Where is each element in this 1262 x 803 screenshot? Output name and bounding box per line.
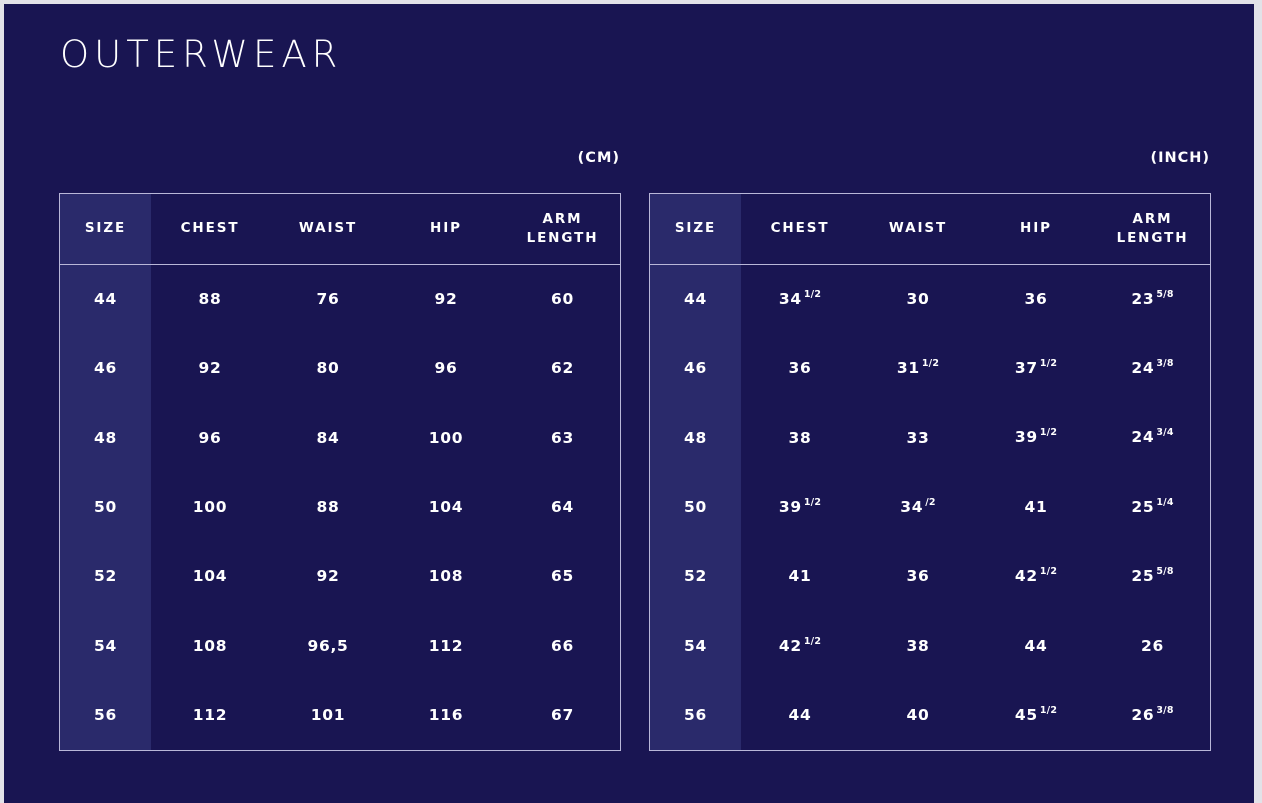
cell-waist: 84 xyxy=(269,403,387,472)
column-header-arm-length: ARM LENGTH xyxy=(505,194,620,264)
table-row: 4636311/2371/2243/8 xyxy=(650,333,1210,402)
value-whole: 88 xyxy=(317,498,340,516)
value-fraction: 3/8 xyxy=(1156,358,1173,369)
cell-arm-length: 67 xyxy=(505,681,620,750)
cell-size: 56 xyxy=(60,681,151,750)
value-whole: 41 xyxy=(789,567,812,585)
cell-arm-length: 60 xyxy=(505,264,620,333)
cell-chest: 341/2 xyxy=(741,264,859,333)
cell-chest: 41 xyxy=(741,542,859,611)
cell-size: 44 xyxy=(650,264,741,333)
value-whole: 30 xyxy=(907,290,930,308)
table-row: 44341/23036235/8 xyxy=(650,264,1210,333)
cell-hip: 92 xyxy=(387,264,505,333)
value-whole: 48 xyxy=(684,429,707,447)
cell-size: 54 xyxy=(650,611,741,680)
cell-size: 52 xyxy=(650,542,741,611)
size-chart-page: OUTERWEAR (CM) (INCH) SIZE CHEST WAIST H… xyxy=(4,4,1254,803)
arm-length-line-2: LENGTH xyxy=(505,229,620,248)
value-fraction: 1/2 xyxy=(1040,358,1057,369)
value-whole: 108 xyxy=(193,637,227,655)
cell-hip: 41 xyxy=(977,472,1095,541)
cell-arm-length: 255/8 xyxy=(1095,542,1210,611)
value-whole: 31 xyxy=(897,359,920,377)
value-whole: 46 xyxy=(684,359,707,377)
value-whole: 33 xyxy=(907,429,930,447)
size-table-inch: SIZE CHEST WAIST HIP ARM LENGTH 44341/23… xyxy=(649,193,1211,751)
cell-waist: 311/2 xyxy=(859,333,977,402)
value-whole: 84 xyxy=(317,429,340,447)
cell-hip: 391/2 xyxy=(977,403,1095,472)
value-whole: 112 xyxy=(193,706,227,724)
measurements-table-cm: SIZE CHEST WAIST HIP ARM LENGTH 44887692… xyxy=(60,194,620,750)
table-row: 564440451/2263/8 xyxy=(650,681,1210,750)
value-whole: 36 xyxy=(907,567,930,585)
value-fraction: 1/2 xyxy=(1040,566,1057,577)
value-whole: 66 xyxy=(551,637,574,655)
value-whole: 24 xyxy=(1131,429,1154,447)
arm-length-line-2: LENGTH xyxy=(1095,229,1210,248)
cell-chest: 108 xyxy=(151,611,269,680)
value-whole: 25 xyxy=(1131,567,1154,585)
value-fraction: 1/2 xyxy=(1040,705,1057,716)
cell-hip: 104 xyxy=(387,472,505,541)
cell-chest: 100 xyxy=(151,472,269,541)
arm-length-line-1: ARM xyxy=(505,210,620,229)
cell-arm-length: 63 xyxy=(505,403,620,472)
cell-chest: 112 xyxy=(151,681,269,750)
value-whole: 96 xyxy=(435,359,458,377)
value-whole: 42 xyxy=(1015,567,1038,585)
value-whole: 92 xyxy=(199,359,222,377)
cell-waist: 101 xyxy=(269,681,387,750)
value-whole: 37 xyxy=(1015,359,1038,377)
page-title: OUTERWEAR xyxy=(60,32,342,78)
cell-waist: 40 xyxy=(859,681,977,750)
value-whole: 41 xyxy=(1025,498,1048,516)
table-row: 48968410063 xyxy=(60,403,620,472)
value-whole: 64 xyxy=(551,498,574,516)
cell-chest: 44 xyxy=(741,681,859,750)
cell-waist: 76 xyxy=(269,264,387,333)
value-whole: 54 xyxy=(94,637,117,655)
column-header-arm-length: ARM LENGTH xyxy=(1095,194,1210,264)
value-whole: 108 xyxy=(429,567,463,585)
table-row: 4488769260 xyxy=(60,264,620,333)
table-row: 5410896,511266 xyxy=(60,611,620,680)
value-whole: 50 xyxy=(684,498,707,516)
cell-waist: 34/2 xyxy=(859,472,977,541)
cell-arm-length: 64 xyxy=(505,472,620,541)
value-whole: 46 xyxy=(94,359,117,377)
table-row: 4692809662 xyxy=(60,333,620,402)
column-header-hip: HIP xyxy=(387,194,505,264)
value-whole: 42 xyxy=(779,637,802,655)
arm-length-line-1: ARM xyxy=(1095,210,1210,229)
value-whole: 44 xyxy=(1025,637,1048,655)
value-whole: 92 xyxy=(435,290,458,308)
value-whole: 36 xyxy=(1025,290,1048,308)
value-fraction: 1/2 xyxy=(1040,427,1057,438)
value-whole: 38 xyxy=(789,429,812,447)
cell-waist: 88 xyxy=(269,472,387,541)
value-fraction: 5/8 xyxy=(1156,289,1173,300)
cell-size: 54 xyxy=(60,611,151,680)
cell-chest: 391/2 xyxy=(741,472,859,541)
value-whole: 24 xyxy=(1131,359,1154,377)
table-header-row: SIZE CHEST WAIST HIP ARM LENGTH xyxy=(60,194,620,264)
value-whole: 96 xyxy=(199,429,222,447)
cell-chest: 96 xyxy=(151,403,269,472)
value-whole: 48 xyxy=(94,429,117,447)
value-whole: 44 xyxy=(94,290,117,308)
cell-size: 50 xyxy=(650,472,741,541)
cell-hip: 116 xyxy=(387,681,505,750)
value-whole: 25 xyxy=(1131,498,1154,516)
cell-hip: 100 xyxy=(387,403,505,472)
value-whole: 67 xyxy=(551,706,574,724)
value-whole: 76 xyxy=(317,290,340,308)
cell-hip: 36 xyxy=(977,264,1095,333)
value-whole: 101 xyxy=(311,706,345,724)
value-whole: 23 xyxy=(1131,290,1154,308)
cell-size: 44 xyxy=(60,264,151,333)
cell-size: 48 xyxy=(60,403,151,472)
cell-size: 46 xyxy=(650,333,741,402)
value-fraction: 1/2 xyxy=(922,358,939,369)
value-whole: 45 xyxy=(1015,706,1038,724)
cell-size: 46 xyxy=(60,333,151,402)
cell-chest: 36 xyxy=(741,333,859,402)
table-row: 5611210111667 xyxy=(60,681,620,750)
value-fraction: 1/2 xyxy=(804,636,821,647)
cell-waist: 92 xyxy=(269,542,387,611)
table-row: 524136421/2255/8 xyxy=(650,542,1210,611)
value-whole: 104 xyxy=(193,567,227,585)
value-whole: 56 xyxy=(684,706,707,724)
cell-chest: 38 xyxy=(741,403,859,472)
column-header-waist: WAIST xyxy=(859,194,977,264)
cell-waist: 38 xyxy=(859,611,977,680)
cell-arm-length: 65 xyxy=(505,542,620,611)
value-whole: 34 xyxy=(779,290,802,308)
cell-chest: 92 xyxy=(151,333,269,402)
value-whole: 52 xyxy=(684,567,707,585)
size-table-cm: SIZE CHEST WAIST HIP ARM LENGTH 44887692… xyxy=(59,193,621,751)
value-whole: 60 xyxy=(551,290,574,308)
value-whole: 39 xyxy=(1015,429,1038,447)
cell-chest: 88 xyxy=(151,264,269,333)
cell-hip: 112 xyxy=(387,611,505,680)
unit-label-cm: (CM) xyxy=(578,150,620,166)
value-whole: 63 xyxy=(551,429,574,447)
value-whole: 26 xyxy=(1141,637,1164,655)
value-whole: 44 xyxy=(789,706,812,724)
cell-arm-length: 243/4 xyxy=(1095,403,1210,472)
value-whole: 54 xyxy=(684,637,707,655)
value-whole: 50 xyxy=(94,498,117,516)
value-whole: 39 xyxy=(779,498,802,516)
value-whole: 34 xyxy=(900,498,923,516)
table-row: 521049210865 xyxy=(60,542,620,611)
cell-hip: 451/2 xyxy=(977,681,1095,750)
cell-hip: 96 xyxy=(387,333,505,402)
value-whole: 44 xyxy=(684,290,707,308)
cell-hip: 371/2 xyxy=(977,333,1095,402)
value-whole: 112 xyxy=(429,637,463,655)
cell-arm-length: 263/8 xyxy=(1095,681,1210,750)
column-header-hip: HIP xyxy=(977,194,1095,264)
value-whole: 26 xyxy=(1131,706,1154,724)
value-whole: 100 xyxy=(429,429,463,447)
cell-hip: 421/2 xyxy=(977,542,1095,611)
cell-size: 52 xyxy=(60,542,151,611)
value-whole: 52 xyxy=(94,567,117,585)
value-whole: 36 xyxy=(789,359,812,377)
unit-label-inch: (INCH) xyxy=(1150,150,1210,166)
cell-waist: 96,5 xyxy=(269,611,387,680)
cell-hip: 108 xyxy=(387,542,505,611)
value-whole: 92 xyxy=(317,567,340,585)
value-whole: 38 xyxy=(907,637,930,655)
cell-size: 50 xyxy=(60,472,151,541)
value-whole: 88 xyxy=(199,290,222,308)
table-header-row: SIZE CHEST WAIST HIP ARM LENGTH xyxy=(650,194,1210,264)
value-fraction: 1/2 xyxy=(804,497,821,508)
cell-arm-length: 66 xyxy=(505,611,620,680)
table-row: 50391/234/241251/4 xyxy=(650,472,1210,541)
cell-waist: 33 xyxy=(859,403,977,472)
value-fraction: 5/8 xyxy=(1156,566,1173,577)
measurements-table-inch: SIZE CHEST WAIST HIP ARM LENGTH 44341/23… xyxy=(650,194,1210,750)
cell-size: 48 xyxy=(650,403,741,472)
value-whole: 62 xyxy=(551,359,574,377)
value-whole: 65 xyxy=(551,567,574,585)
value-whole: 96,5 xyxy=(307,637,348,655)
cell-arm-length: 251/4 xyxy=(1095,472,1210,541)
cell-waist: 36 xyxy=(859,542,977,611)
cell-size: 56 xyxy=(650,681,741,750)
value-whole: 116 xyxy=(429,706,463,724)
value-whole: 40 xyxy=(907,706,930,724)
value-fraction: 3/4 xyxy=(1156,427,1173,438)
column-header-waist: WAIST xyxy=(269,194,387,264)
cell-arm-length: 243/8 xyxy=(1095,333,1210,402)
table-row: 501008810464 xyxy=(60,472,620,541)
value-fraction: /2 xyxy=(925,497,935,508)
value-fraction: 1/4 xyxy=(1156,497,1173,508)
value-fraction: 3/8 xyxy=(1156,705,1173,716)
table-row: 54421/2384426 xyxy=(650,611,1210,680)
cell-arm-length: 26 xyxy=(1095,611,1210,680)
column-header-chest: CHEST xyxy=(151,194,269,264)
value-whole: 80 xyxy=(317,359,340,377)
cell-arm-length: 235/8 xyxy=(1095,264,1210,333)
value-whole: 100 xyxy=(193,498,227,516)
cell-chest: 421/2 xyxy=(741,611,859,680)
cell-waist: 30 xyxy=(859,264,977,333)
cell-arm-length: 62 xyxy=(505,333,620,402)
value-whole: 56 xyxy=(94,706,117,724)
cell-chest: 104 xyxy=(151,542,269,611)
cell-waist: 80 xyxy=(269,333,387,402)
cell-hip: 44 xyxy=(977,611,1095,680)
column-header-chest: CHEST xyxy=(741,194,859,264)
table-row: 483833391/2243/4 xyxy=(650,403,1210,472)
column-header-size: SIZE xyxy=(60,194,151,264)
value-fraction: 1/2 xyxy=(804,289,821,300)
column-header-size: SIZE xyxy=(650,194,741,264)
value-whole: 104 xyxy=(429,498,463,516)
